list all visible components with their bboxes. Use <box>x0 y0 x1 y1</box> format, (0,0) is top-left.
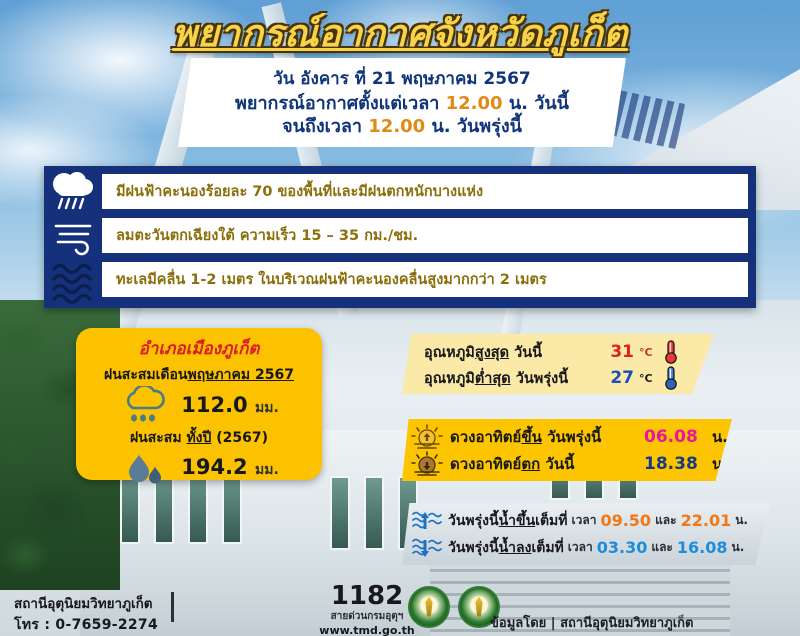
yearly-rain-label: ฝนสะสม ทั้งปี (2567) <box>86 427 312 449</box>
yearly-rain-value-row: 194.2 มม. <box>181 455 279 481</box>
station-tel: โทร : 0-7659-2274 <box>14 614 158 636</box>
yearly-rain-value: 194.2 <box>181 455 247 479</box>
sunset-label-post: วันนี้ <box>540 455 574 473</box>
footer-divider <box>171 592 174 622</box>
max-temp-label-emph: สูงสุด <box>475 345 509 361</box>
max-temp-label-post: วันนี้ <box>509 345 542 361</box>
monthly-rain-value-row: 112.0 มม. <box>181 393 279 419</box>
window-row <box>330 476 418 550</box>
condition-row-sea: ทะเลมีคลื่น 1-2 เมตร ในบริเวณฝนฟ้าคะนองค… <box>102 262 748 297</box>
high-tide-suffix: น. <box>735 511 748 530</box>
yearly-rain-label-post: (2567) <box>211 430 268 446</box>
yearly-rain-row: 194.2 มม. <box>86 449 312 487</box>
high-tide-conjunction: และ <box>655 511 677 530</box>
monthly-rain-row: 112.0 มม. <box>86 386 312 426</box>
yearly-rain-label-pre: ฝนสะสม <box>130 430 187 446</box>
sunset-time: 18.38 <box>644 454 706 474</box>
yearly-rain-label-emph: ทั้งปี <box>186 430 211 446</box>
period-start-prefix: พยากรณ์อากาศตั้งแต่เวลา <box>235 93 446 114</box>
thermometer-cold-icon <box>661 365 681 391</box>
sunset-label-emph: ตก <box>521 455 540 473</box>
high-tide-label-emph: น้ำขึ้น <box>499 513 536 529</box>
forecast-period-start: พยากรณ์อากาศตั้งแต่เวลา 12.00 น. วันนี้ <box>188 93 616 116</box>
sunset-row: ดวงอาทิตย์ตก วันนี้ 18.38 น. <box>410 450 732 477</box>
wind-icon <box>44 214 102 260</box>
monthly-rain-value: 112.0 <box>181 393 247 417</box>
high-tide-label: วันพรุ่งนี้น้ำขึ้นเต็มที่ <box>448 510 568 532</box>
department-seal-icon <box>408 586 450 628</box>
low-tide-row: วันพรุ่งนี้น้ำลงเต็มที่ เวลา 03.30 และ 1… <box>410 534 770 561</box>
yearly-rain-unit: มม. <box>255 462 279 478</box>
hotline-number: 1182 <box>312 583 422 609</box>
low-tide-label-emph: น้ำลง <box>499 540 532 556</box>
page-title: พยากรณ์อากาศจังหวัดภูเก็ต <box>0 4 800 63</box>
monthly-rain-unit: มม. <box>255 400 279 416</box>
min-temperature-unit: °C <box>639 372 661 385</box>
wave-icon <box>44 260 102 308</box>
weather-infographic: พยากรณ์อากาศจังหวัดภูเก็ต วัน อังคาร ที่… <box>0 0 800 636</box>
monthly-rain-label: ฝนสะสมเดือนพฤษภาคม 2567 <box>86 364 312 386</box>
sunset-label-pre: ดวงอาทิตย์ <box>450 455 521 473</box>
footer-contacts: สถานีอุตุนิยมวิทยาภูเก็ต โทร : 0-7659-22… <box>14 592 314 636</box>
high-tide-time-word: เวลา <box>572 511 597 530</box>
sunrise-label-pre: ดวงอาทิตย์ <box>450 428 521 446</box>
low-tide-time-2: 16.08 <box>677 538 728 557</box>
low-tide-label-post: เต็มที่ <box>531 540 563 556</box>
max-temperature-label: อุณหภูมิสูงสุด วันนี้ <box>424 341 600 364</box>
low-tide-time-1: 03.30 <box>597 538 648 557</box>
max-temperature-row: อุณหภูมิสูงสุด วันนี้ 31 °C <box>424 339 714 365</box>
temperature-box: อุณหภูมิสูงสุด วันนี้ 31 °C อุณหภูมิต่ำส… <box>402 334 714 394</box>
period-end-prefix: จนถึงเวลา <box>282 116 368 137</box>
max-temp-label-pre: อุณหภูมิ <box>424 345 475 361</box>
sunrise-label-emph: ขึ้น <box>521 428 542 446</box>
high-tide-row: วันพรุ่งนี้น้ำขึ้นเต็มที่ เวลา 09.50 และ… <box>410 507 770 534</box>
low-tide-conjunction: และ <box>651 538 673 557</box>
low-tide-label-pre: วันพรุ่งนี้ <box>448 540 499 556</box>
condition-row-wind: ลมตะวันตกเฉียงใต้ ความเร็ว 15 – 35 กม./ช… <box>102 218 748 253</box>
water-droplets-icon <box>119 449 171 487</box>
max-temperature-value: 31 <box>600 342 634 362</box>
sunset-icon <box>410 451 444 477</box>
monthly-rain-label-plain: เดือน <box>156 367 188 383</box>
condition-row-rain: มีฝนฟ้าคะนองร้อยละ 70 ของพื้นที่และมีฝนต… <box>102 174 748 209</box>
low-tide-label: วันพรุ่งนี้น้ำลงเต็มที่ <box>448 537 564 559</box>
thermometer-hot-icon <box>661 339 681 365</box>
monthly-rain-month: พฤษภาคม 2567 <box>188 367 294 383</box>
conditions-list: มีฝนฟ้าคะนองร้อยละ 70 ของพื้นที่และมีฝนต… <box>102 174 748 297</box>
date-banner: วัน อังคาร ที่ 21 พฤษภาคม 2567 พยากรณ์อา… <box>178 58 626 147</box>
sunrise-time: 06.08 <box>644 427 706 447</box>
forecast-date: วัน อังคาร ที่ 21 พฤษภาคม 2567 <box>188 65 616 92</box>
sunrise-label: ดวงอาทิตย์ขึ้น วันพรุ่งนี้ <box>450 425 644 449</box>
sunset-label: ดวงอาทิตย์ตก วันนี้ <box>450 452 644 476</box>
min-temp-label-emph: ต่ำสุด <box>475 371 511 387</box>
min-temp-label-pre: อุณหภูมิ <box>424 371 475 387</box>
sunrise-label-post: วันพรุ่งนี้ <box>542 428 601 446</box>
high-tide-label-post: เต็มที่ <box>535 513 567 529</box>
high-tide-time-1: 09.50 <box>600 511 651 530</box>
period-start-time: 12.00 <box>446 93 503 114</box>
high-tide-label-pre: วันพรุ่งนี้ <box>448 513 499 529</box>
max-temperature-unit: °C <box>639 346 661 359</box>
conditions-panel: มีฝนฟ้าคะนองร้อยละ 70 ของพื้นที่และมีฝนต… <box>44 166 756 308</box>
high-tide-icon <box>410 509 444 533</box>
hotline-label: สายด่วนกรมอุตุฯ <box>312 609 422 624</box>
sun-times-box: ดวงอาทิตย์ขึ้น วันพรุ่งนี้ 06.08 น. <box>402 419 732 481</box>
conditions-icon-column <box>44 166 102 308</box>
low-tide-icon <box>410 536 444 560</box>
website-url[interactable]: www.tmd.go.th <box>312 624 422 636</box>
period-end-suffix: น. วันพรุ่งนี้ <box>425 116 522 137</box>
forecast-period-end: จนถึงเวลา 12.00 น. วันพรุ่งนี้ <box>188 116 616 139</box>
sunrise-row: ดวงอาทิตย์ขึ้น วันพรุ่งนี้ 06.08 น. <box>410 423 732 450</box>
monthly-rain-label-pre: ฝนสะสม <box>104 367 156 383</box>
low-tide-time-word: เวลา <box>568 538 593 557</box>
low-tide-suffix: น. <box>732 538 745 557</box>
tide-times-box: วันพรุ่งนี้น้ำขึ้นเต็มที่ เวลา 09.50 และ… <box>402 503 770 565</box>
period-start-suffix: น. วันนี้ <box>503 93 569 114</box>
data-credit: ข้อมูลโดย | สถานีอุตุนิยมวิทยาภูเก็ต <box>490 612 694 633</box>
rain-cloud-drops-icon <box>119 386 171 426</box>
sunrise-icon <box>410 424 444 450</box>
station-name: สถานีอุตุนิยมวิทยาภูเก็ต <box>14 592 158 614</box>
min-temperature-row: อุณหภูมิต่ำสุด วันพรุ่งนี้ 27 °C <box>424 365 714 391</box>
min-temp-label-post: วันพรุ่งนี้ <box>511 371 568 387</box>
period-end-time: 12.00 <box>368 116 425 137</box>
rain-cloud-icon <box>44 166 102 214</box>
station-contact: สถานีอุตุนิยมวิทยาภูเก็ต โทร : 0-7659-22… <box>14 592 158 636</box>
min-temperature-label: อุณหภูมิต่ำสุด วันพรุ่งนี้ <box>424 367 600 390</box>
district-name: อำเภอเมืองภูเก็ต <box>86 335 312 362</box>
rainfall-panel: อำเภอเมืองภูเก็ต ฝนสะสมเดือนพฤษภาคม 2567… <box>76 328 322 480</box>
hotline-block: 1182 สายด่วนกรมอุตุฯ www.tmd.go.th <box>312 583 422 636</box>
min-temperature-value: 27 <box>600 368 634 388</box>
high-tide-time-2: 22.01 <box>681 511 732 530</box>
